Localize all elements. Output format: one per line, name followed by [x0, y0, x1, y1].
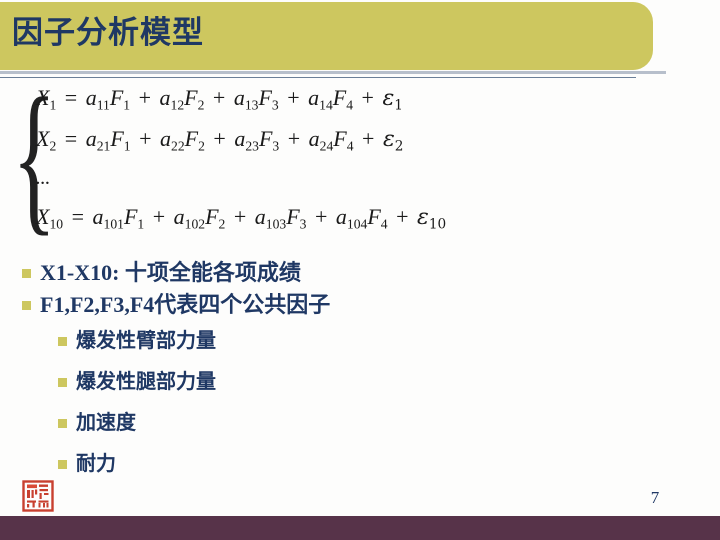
eq-equals: =	[62, 126, 80, 151]
equation-x2: X2 = a21F1 + a22F2 + a23F3 + a24F4 + ε2	[36, 127, 403, 159]
eq-error: ε10	[417, 205, 446, 230]
eq-term-2: a102F2	[174, 204, 226, 229]
sub-bullet-item-arm-power: 爆发性臂部力量	[0, 322, 720, 363]
eq-plus-3: +	[284, 85, 302, 110]
eq-lhs: X10	[36, 204, 63, 229]
eq-lhs: X2	[36, 126, 56, 151]
bullet-label: F1,F2,F3,F4代表四个公共因子	[40, 292, 330, 317]
eq-error: ε2	[383, 127, 403, 152]
equation-x10: X10 = a101F1 + a102F2 + a103F3 + a104F4 …	[36, 205, 446, 237]
eq-term-1: a101F1	[93, 204, 145, 229]
eq-equals: =	[69, 204, 87, 229]
eq-plus-3: +	[312, 204, 330, 229]
eq-plus-2: +	[210, 85, 228, 110]
eq-lhs: X1	[36, 85, 56, 110]
eq-term-4: a24F4	[309, 126, 354, 151]
eq-error: ε1	[382, 86, 402, 111]
eq-term-3: a13F3	[234, 85, 279, 110]
eq-term-2: a12F2	[160, 85, 205, 110]
eq-term-4: a14F4	[308, 85, 353, 110]
sub-bullet-label: 加速度	[76, 412, 136, 434]
bullet-square-icon	[58, 460, 67, 469]
eq-plus-1: +	[150, 204, 168, 229]
eq-plus-2: +	[210, 126, 228, 151]
bullet-square-icon	[22, 269, 31, 278]
sub-bullet-item-endurance: 耐力	[0, 445, 720, 486]
sub-bullet-label: 爆发性腿部力量	[76, 371, 216, 393]
eq-term-3: a23F3	[234, 126, 279, 151]
eq-term-4: a104F4	[336, 204, 388, 229]
bullet-item-f-factors: F1,F2,F3,F4代表四个公共因子	[0, 290, 720, 322]
seal-stamp-icon	[22, 480, 54, 512]
title-divider-thick	[0, 71, 666, 74]
footer-bar	[0, 516, 720, 540]
sub-bullet-label: 耐力	[76, 453, 116, 475]
eq-term-2: a22F2	[160, 126, 205, 151]
sub-bullet-label: 爆发性臂部力量	[76, 330, 216, 352]
bullet-list: X1-X10: 十项全能各项成绩 F1,F2,F3,F4代表四个公共因子 爆发性…	[0, 258, 720, 486]
eq-plus-4: +	[393, 204, 411, 229]
eq-term-1: a11F1	[86, 85, 130, 110]
page-title: 因子分析模型	[12, 13, 204, 53]
bullet-square-icon	[22, 301, 31, 310]
eq-term-3: a103F3	[255, 204, 307, 229]
equation-ellipsis: ...	[36, 168, 50, 192]
slide-canvas: 因子分析模型 { X1 = a11F1 + a12F2 + a13F3 + a1…	[0, 0, 720, 540]
equation-system: { X1 = a11F1 + a12F2 + a13F3 + a14F4 + ε…	[12, 82, 482, 240]
eq-plus-4: +	[359, 126, 377, 151]
eq-plus-4: +	[359, 85, 377, 110]
page-number: 7	[640, 488, 670, 508]
title-divider-thin	[0, 77, 636, 78]
sub-bullet-item-leg-power: 爆发性腿部力量	[0, 363, 720, 404]
bullet-label: X1-X10: 十项全能各项成绩	[40, 260, 301, 285]
equation-x1: X1 = a11F1 + a12F2 + a13F3 + a14F4 + ε1	[36, 86, 403, 118]
eq-term-1: a21F1	[86, 126, 131, 151]
sub-bullet-item-acceleration: 加速度	[0, 404, 720, 445]
eq-plus-2: +	[231, 204, 249, 229]
bullet-square-icon	[58, 337, 67, 346]
eq-plus-1: +	[136, 85, 154, 110]
bullet-square-icon	[58, 419, 67, 428]
eq-plus-3: +	[285, 126, 303, 151]
eq-equals: =	[62, 85, 80, 110]
bullet-square-icon	[58, 378, 67, 387]
bullet-item-x-variables: X1-X10: 十项全能各项成绩	[0, 258, 720, 290]
eq-plus-1: +	[136, 126, 154, 151]
